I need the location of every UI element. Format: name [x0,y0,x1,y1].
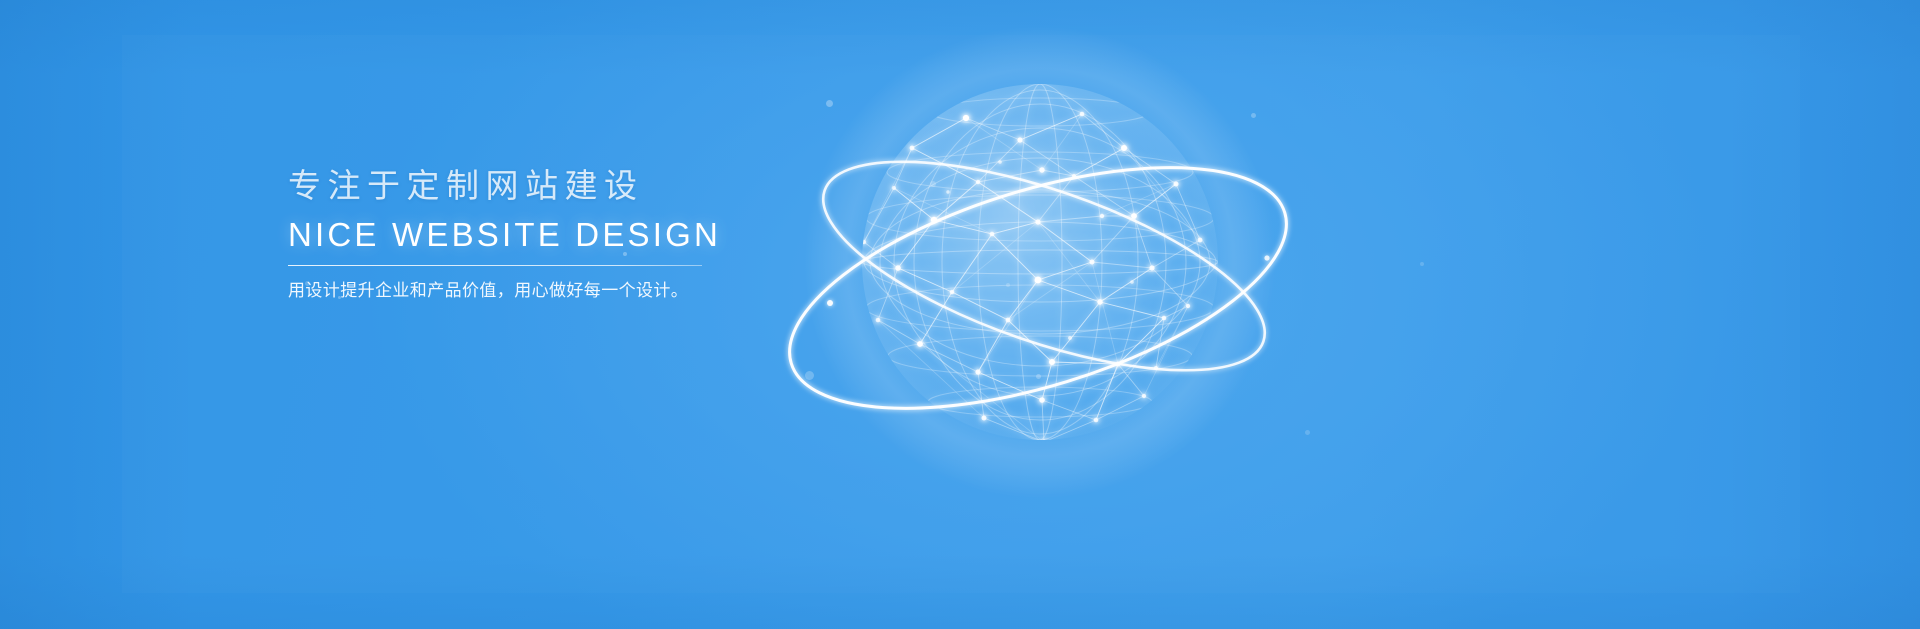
hero-banner: 专注于定制网站建设 NICE WEBSITE DESIGN 用设计提升企业和产品… [0,0,1920,629]
background-vignette [0,0,1920,629]
